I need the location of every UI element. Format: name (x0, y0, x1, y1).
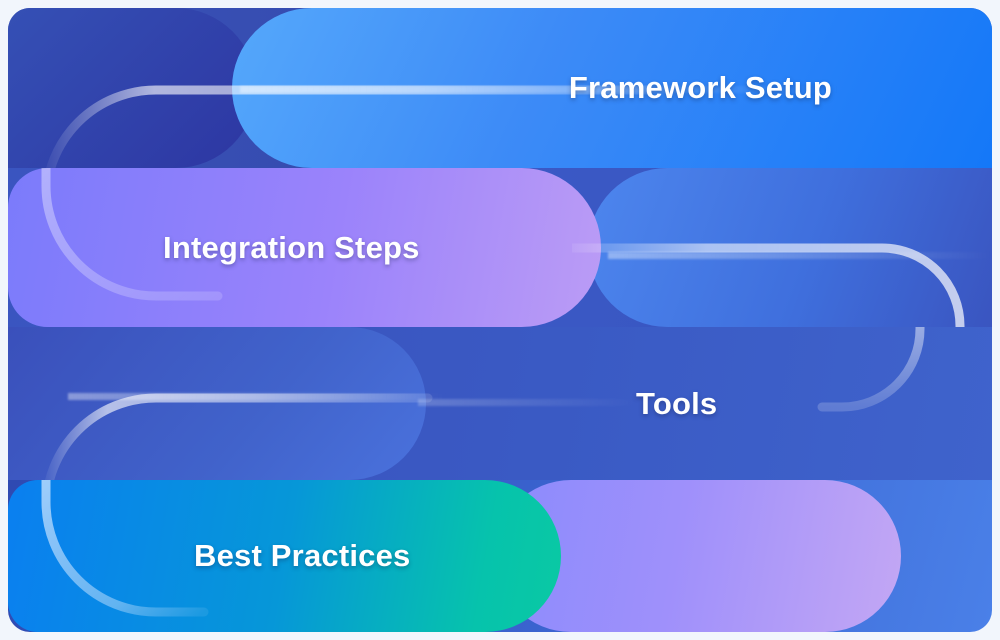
row-label: Best Practices (194, 538, 411, 574)
row-best-practices[interactable]: Best Practices (8, 480, 992, 632)
row-label: Framework Setup (569, 70, 832, 106)
row-integration-steps[interactable]: Integration Steps (8, 168, 992, 327)
row-label: Integration Steps (163, 230, 420, 266)
row-framework-setup[interactable]: Framework Setup (8, 8, 992, 168)
row-tools[interactable]: Tools (8, 327, 992, 480)
highlight-streak (418, 399, 638, 406)
highlight-streak (608, 252, 992, 259)
infographic-canvas: Framework Setup (0, 0, 1000, 640)
row-secondary-pill (588, 168, 992, 327)
row-left-slab (8, 327, 426, 480)
row-label: Tools (636, 386, 717, 422)
row-left-slab (8, 8, 256, 168)
rounded-canvas: Framework Setup (8, 8, 992, 632)
highlight-streak (68, 393, 448, 400)
